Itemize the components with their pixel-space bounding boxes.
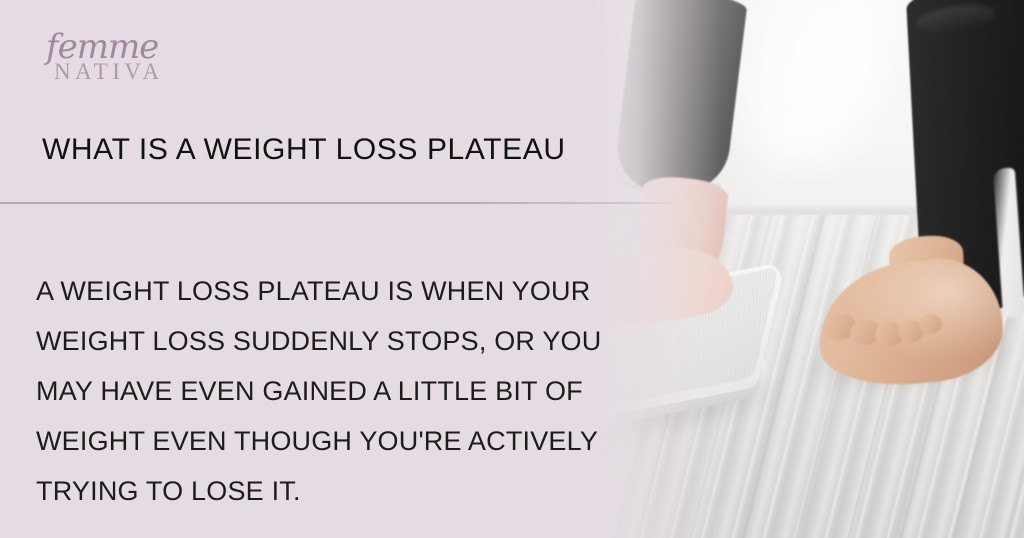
- body-copy: A WEIGHT LOSS PLATEAU IS WHEN YOUR WEIGH…: [36, 266, 636, 516]
- body-line: WEIGHT LOSS SUDDENLY STOPS, OR YOU: [36, 316, 636, 366]
- body-line: WEIGHT EVEN THOUGH YOU'RE ACTIVELY: [36, 416, 636, 466]
- page-title: WHAT IS A WEIGHT LOSS PLATEAU: [42, 133, 566, 167]
- brand-logo-wordmark: NATIVA: [40, 60, 240, 83]
- title-divider: [0, 202, 683, 204]
- brand-logo: femme NATIVA: [40, 30, 240, 108]
- body-line: TRYING TO LOSE IT.: [36, 466, 636, 516]
- body-line: A WEIGHT LOSS PLATEAU IS WHEN YOUR: [36, 266, 636, 316]
- body-line: MAY HAVE EVEN GAINED A LITTLE BIT OF: [36, 366, 636, 416]
- weight-loss-plateau-banner: femme NATIVA WHAT IS A WEIGHT LOSS PLATE…: [0, 0, 1024, 538]
